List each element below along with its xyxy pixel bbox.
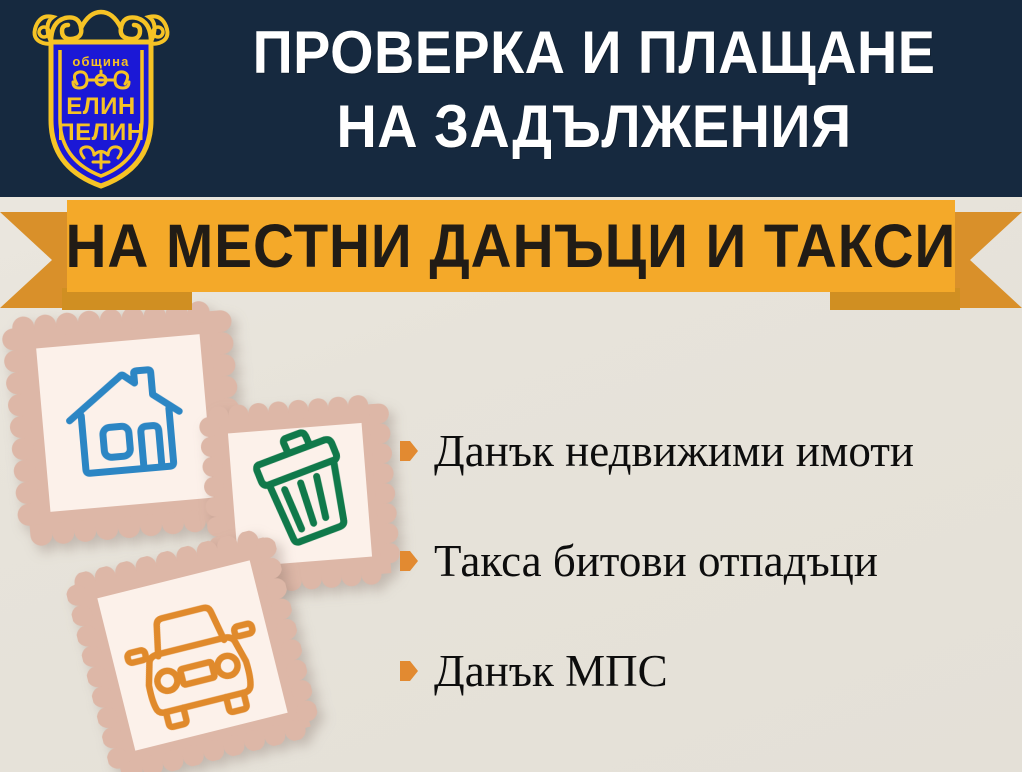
arrow-bullet-icon — [400, 550, 418, 572]
list-item-label: Данък МПС — [434, 644, 668, 698]
arrow-bullet-icon — [400, 660, 418, 682]
poster-canvas: община ЕЛИН ПЕЛИН — [0, 0, 1022, 772]
ribbon-center-panel: НА МЕСТНИ ДАНЪЦИ И ТАКСИ — [67, 200, 955, 292]
arrow-bullet-icon — [400, 440, 418, 462]
header-bar: община ЕЛИН ПЕЛИН — [0, 0, 1022, 197]
page-title-line-2: НА ЗАДЪЛЖЕНИЯ — [209, 90, 979, 164]
ribbon-banner: НА МЕСТНИ ДАНЪЦИ И ТАКСИ — [0, 196, 1022, 308]
svg-text:ПЕЛИН: ПЕЛИН — [57, 119, 144, 146]
svg-text:ЕЛИН: ЕЛИН — [66, 93, 135, 120]
page-title-line-1: ПРОВЕРКА И ПЛАЩАНЕ — [253, 19, 936, 86]
stamp-illustrations — [0, 300, 420, 772]
ribbon-text: НА МЕСТНИ ДАНЪЦИ И ТАКСИ — [66, 215, 957, 277]
tax-type-list: Данък недвижими имоти Такса битови отпад… — [400, 424, 1010, 698]
list-item-label: Данък недвижими имоти — [434, 424, 914, 478]
municipality-logo: община ЕЛИН ПЕЛИН — [27, 8, 175, 190]
list-item-label: Такса битови отпадъци — [434, 534, 878, 588]
list-item[interactable]: Такса битови отпадъци — [400, 534, 1010, 588]
list-item[interactable]: Данък МПС — [400, 644, 1010, 698]
svg-text:община: община — [72, 54, 129, 69]
page-title: ПРОВЕРКА И ПЛАЩАНЕ НА ЗАДЪЛЖЕНИЯ — [209, 16, 979, 164]
list-item[interactable]: Данък недвижими имоти — [400, 424, 1010, 478]
